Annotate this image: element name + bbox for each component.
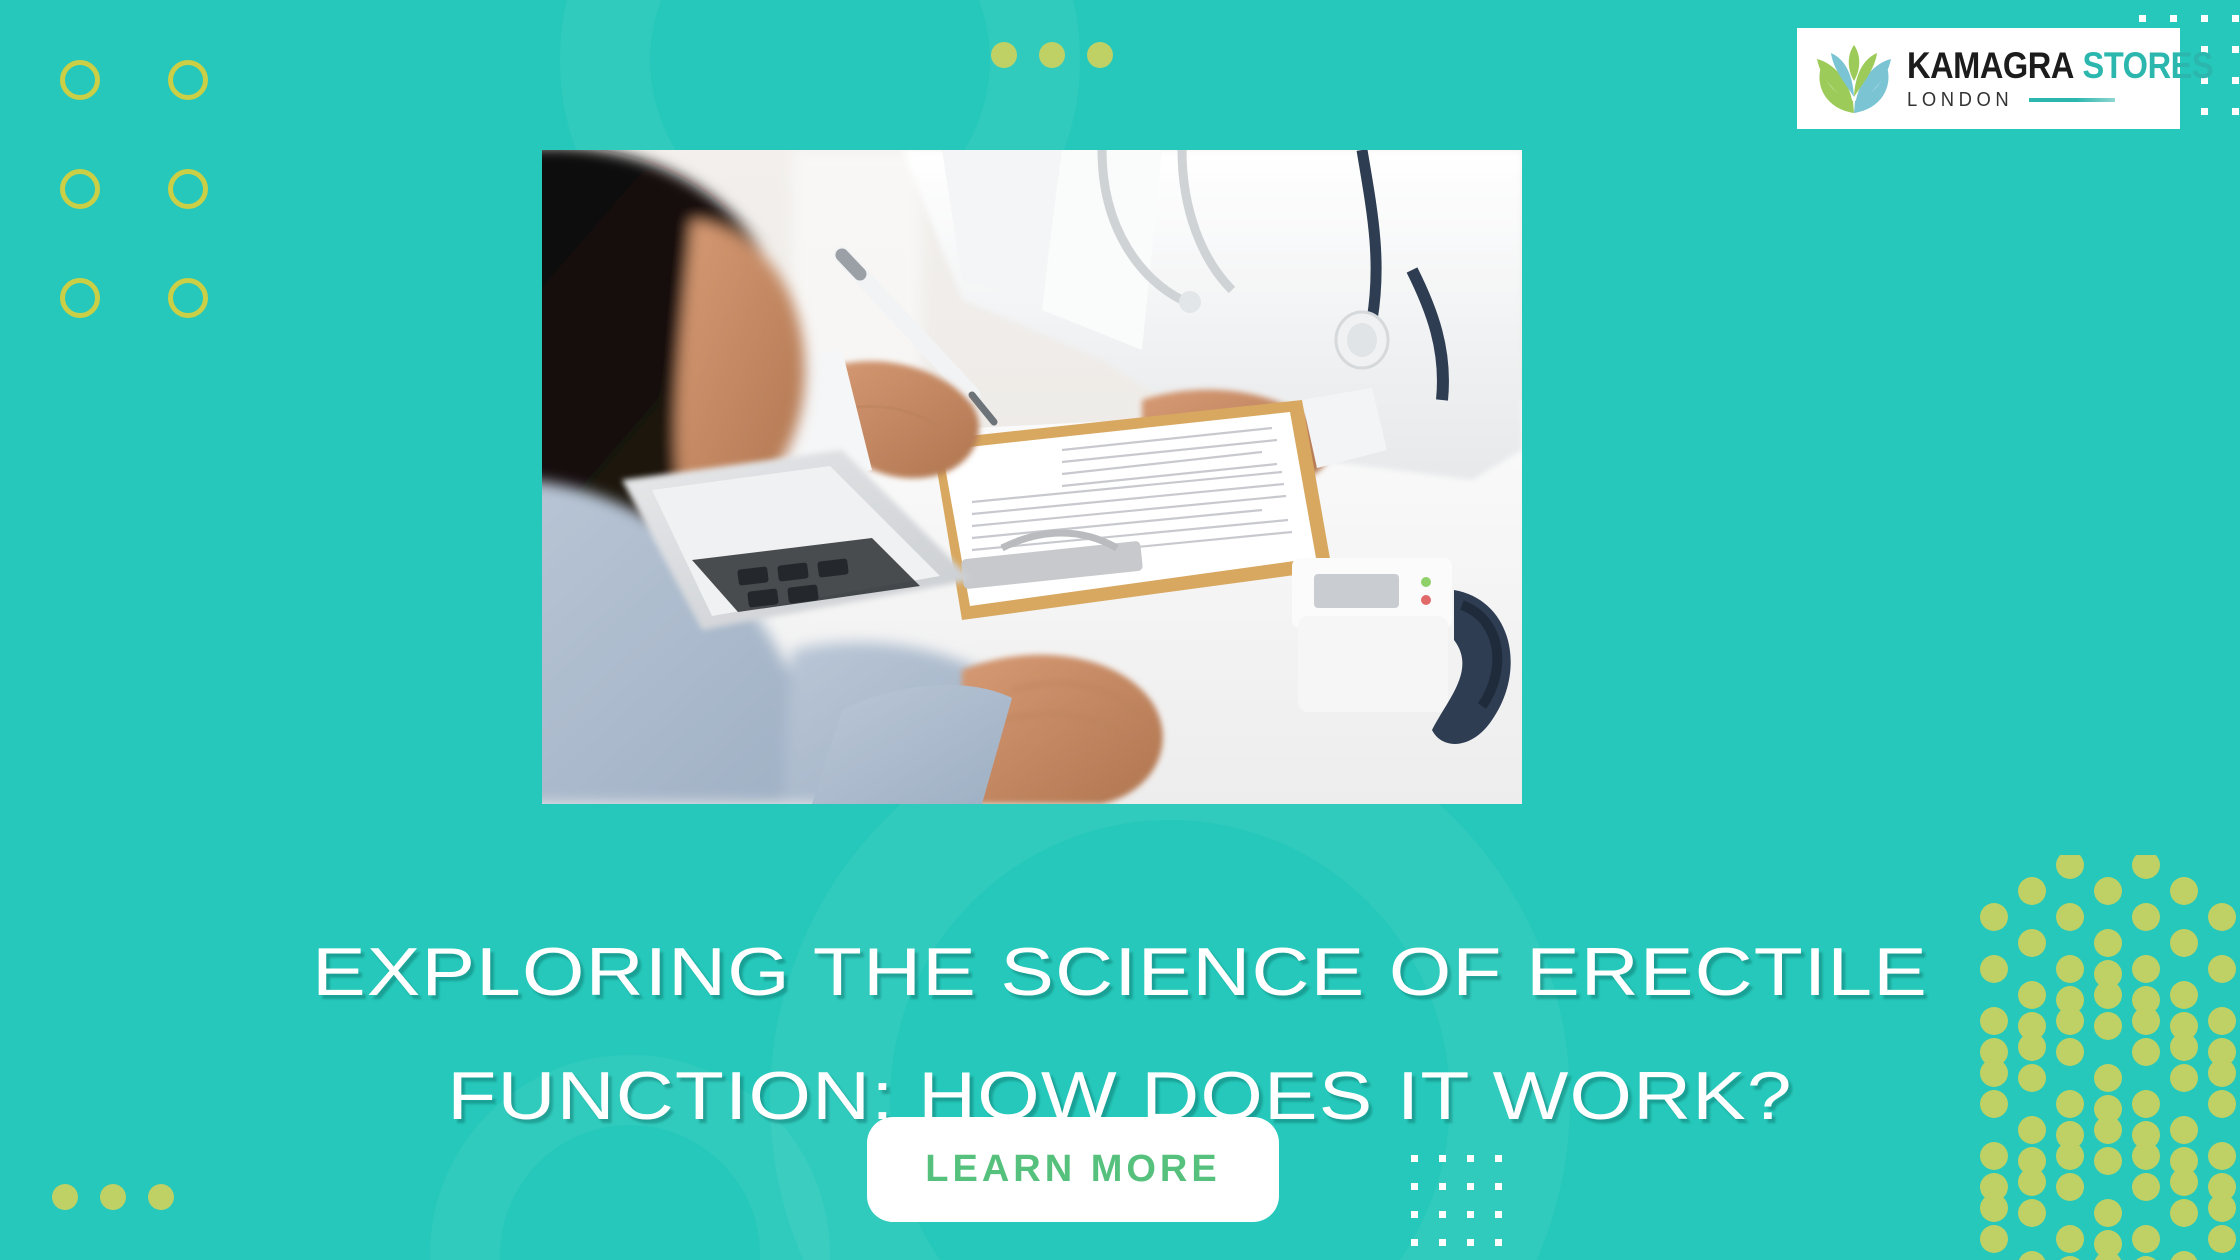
chevron-dot-icon	[1980, 1173, 2008, 1201]
grid-dot-icon	[1467, 1211, 1474, 1218]
dots-bottom-left	[52, 1184, 174, 1210]
chevron-dot-icon	[2132, 855, 2160, 879]
chevron-dot-icon	[2132, 1173, 2160, 1201]
logo-wordmark: KAMAGRA STORES LONDON	[1907, 47, 2240, 110]
grid-dot-icon	[1439, 1239, 1446, 1246]
logo-brand-primary: KAMAGRA	[1907, 45, 2074, 86]
dots-top-center	[991, 42, 1113, 68]
chevron-dot-icon	[2094, 1230, 2122, 1258]
learn-more-button[interactable]: LEARN MORE	[867, 1117, 1279, 1222]
chevron-dot-icon	[2132, 1225, 2160, 1253]
dot-icon	[52, 1184, 78, 1210]
dot-icon	[1087, 42, 1113, 68]
leaf-person-icon	[1811, 39, 1897, 119]
dot-icon	[148, 1184, 174, 1210]
grid-dot-icon	[2201, 15, 2208, 22]
dot-icon	[991, 42, 1017, 68]
grid-dot-icon	[2232, 15, 2239, 22]
dot-grid-near-cta	[1411, 1155, 1502, 1246]
chevron-dot-icon	[2018, 1251, 2046, 1260]
grid-dot-icon	[1439, 1211, 1446, 1218]
ring-outline-icon	[60, 60, 100, 100]
grid-dot-icon	[1495, 1183, 1502, 1190]
chevron-dot-icon	[2208, 1225, 2236, 1253]
ring-outline-icon	[60, 169, 100, 209]
chevron-dot-icon	[1980, 1225, 2008, 1253]
ring-outline-icon	[168, 278, 208, 318]
logo-underline-rule	[2029, 98, 2115, 102]
logo-location: LONDON	[1907, 90, 2013, 110]
ring-outline-icon	[168, 169, 208, 209]
chevron-dot-icon	[2170, 1251, 2198, 1260]
dot-icon	[100, 1184, 126, 1210]
ring-outline-icon	[168, 60, 208, 100]
consultation-photo	[542, 150, 1522, 804]
grid-dot-icon	[1439, 1183, 1446, 1190]
grid-dot-icon	[2139, 15, 2146, 22]
brand-logo[interactable]: KAMAGRA STORES LONDON	[1797, 28, 2180, 129]
chevron-dot-icon	[2208, 1173, 2236, 1201]
chevron-dot-icon	[2018, 1199, 2046, 1227]
chevron-dot-icon	[2132, 1256, 2160, 1260]
grid-dot-icon	[1495, 1211, 1502, 1218]
ring-decoration-field	[0, 60, 250, 420]
chevron-dot-icon	[2056, 1256, 2084, 1260]
chevron-dot-icon	[2056, 855, 2084, 879]
chevron-dot-icon	[2018, 877, 2046, 905]
chevron-dot-icon	[2170, 1199, 2198, 1227]
logo-brand-secondary: STORES	[2083, 45, 2214, 86]
headline-line-1: EXPLORING THE SCIENCE OF ERECTILE	[0, 910, 2240, 1034]
chevron-dot-icon	[2094, 1199, 2122, 1227]
promo-banner: KAMAGRA STORES LONDON EXPLORING THE SCIE…	[0, 0, 2240, 1260]
chevron-dot-icon	[2056, 1225, 2084, 1253]
grid-dot-icon	[1411, 1211, 1418, 1218]
dot-icon	[1039, 42, 1065, 68]
chevron-dot-icon	[2094, 877, 2122, 905]
grid-dot-icon	[1467, 1239, 1474, 1246]
grid-dot-icon	[1411, 1183, 1418, 1190]
chevron-dot-icon	[2170, 877, 2198, 905]
chevron-dot-icon	[2056, 1173, 2084, 1201]
grid-dot-icon	[1495, 1239, 1502, 1246]
ring-outline-icon	[60, 278, 100, 318]
grid-dot-icon	[2170, 15, 2177, 22]
grid-dot-icon	[1411, 1239, 1418, 1246]
grid-dot-icon	[1467, 1183, 1474, 1190]
